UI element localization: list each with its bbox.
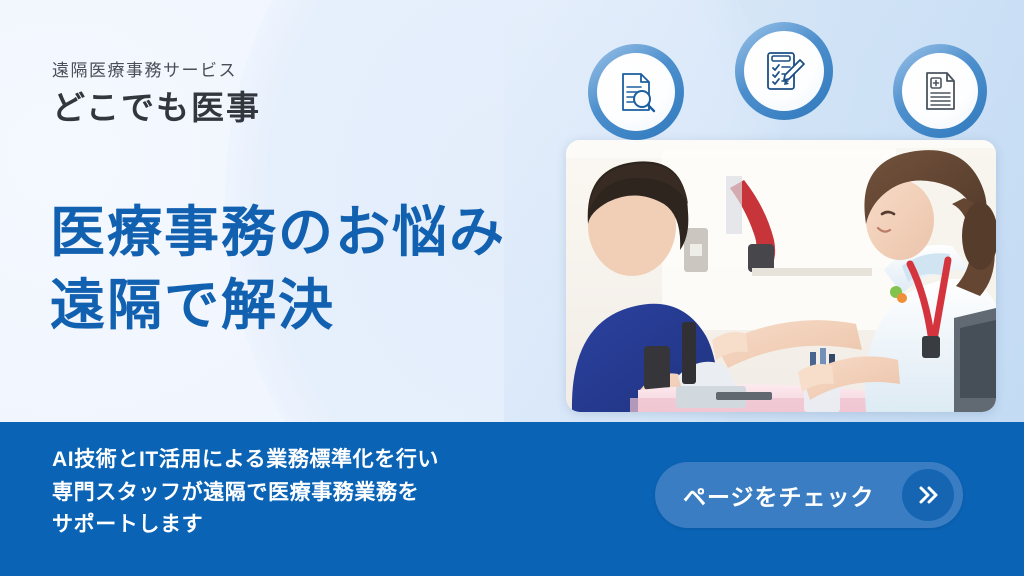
promo-banner: 遠隔医療事務サービス どこでも医事 医療事務のお悩み 遠隔で解決	[0, 0, 1024, 576]
brand-logo: 遠隔医療事務サービス どこでも医事	[52, 60, 261, 127]
medical-document-icon	[917, 68, 963, 114]
headline: 医療事務のお悩み 遠隔で解決	[50, 196, 506, 342]
bottom-line-3: サポートします	[52, 509, 439, 542]
clipboard-checklist-pencil-icon	[759, 46, 809, 96]
cta-arrow-circle[interactable]	[902, 469, 954, 521]
bottom-description: AI技術とIT活用による業務標準化を行い 専門スタッフが遠隔で医療事務業務を サ…	[52, 444, 439, 542]
headline-line-2: 遠隔で解決	[50, 269, 506, 342]
badge-inner	[902, 53, 978, 129]
brand-name: どこでも医事	[52, 89, 261, 127]
service-tagline: 遠隔医療事務サービス	[52, 60, 261, 82]
badge-inner	[744, 31, 824, 111]
badge-inner	[597, 53, 675, 131]
bottom-line-1: AI技術とIT活用による業務標準化を行い	[52, 444, 439, 477]
headline-line-1: 医療事務のお悩み	[50, 196, 506, 269]
clinic-reception-photo	[566, 140, 996, 412]
check-page-button-label: ページをチェック	[683, 478, 875, 512]
document-search-icon	[612, 68, 660, 116]
badge-medical-document	[893, 44, 987, 138]
check-page-button[interactable]: ページをチェック	[655, 462, 963, 528]
double-chevron-right-icon	[913, 480, 943, 510]
badge-document-search	[588, 44, 684, 140]
badge-clipboard-checklist	[735, 22, 833, 120]
bottom-line-2: 専門スタッフが遠隔で医療事務業務を	[52, 477, 439, 510]
